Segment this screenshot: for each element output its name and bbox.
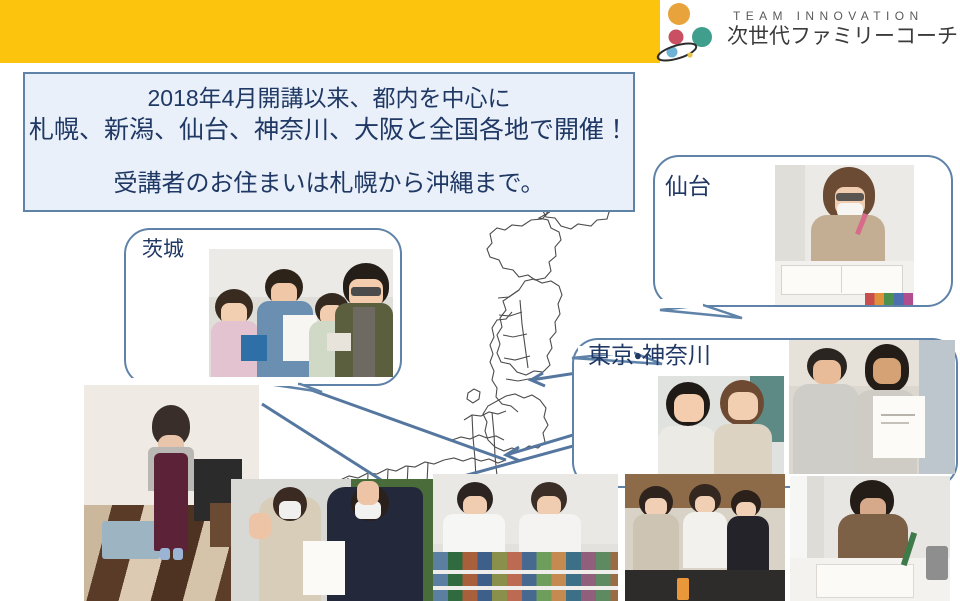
logo-text-block: TEAM INNOVATION 次世代ファミリーコーチング <box>727 8 960 50</box>
callout-label-ibaraki: 茨城 <box>142 236 184 264</box>
message-box: 2018年4月開講以来、都内を中心に 札幌、新潟、仙台、神奈川、大阪と全国各地で… <box>23 72 635 212</box>
logo-planets-icon <box>655 0 733 64</box>
message-line-3: 受講者のお住まいは札幌から沖縄まで。 <box>25 169 633 199</box>
photo-writing-woman <box>790 476 950 601</box>
photo-certificate-pair <box>231 479 433 601</box>
photo-cards-table <box>433 474 618 601</box>
photo-sendai-writing <box>775 165 914 305</box>
message-line-1: 2018年4月開講以来、都内を中心に <box>25 83 633 113</box>
photo-ibaraki-group <box>209 249 393 377</box>
title-banner <box>0 0 660 63</box>
callout-label-tokyo: 東京・神奈川 <box>588 341 711 369</box>
photo-sofa-three <box>625 474 785 601</box>
photo-tokyo-certificate <box>789 340 955 474</box>
message-line-2: 札幌、新潟、仙台、神奈川、大阪と全国各地で開催！ <box>25 113 633 147</box>
slide-canvas: 茨城 仙台 東京・神奈川 2018年4月開講以来、都内を中心に 札幌、新潟、仙台… <box>0 0 960 601</box>
callout-label-sendai: 仙台 <box>665 172 711 200</box>
logo-brand-name: 次世代ファミリーコーチング <box>727 24 960 50</box>
photo-tokyo-pair <box>658 376 784 474</box>
logo-tagline: TEAM INNOVATION <box>727 8 960 24</box>
brand-logo: TEAM INNOVATION 次世代ファミリーコーチング <box>655 0 960 66</box>
